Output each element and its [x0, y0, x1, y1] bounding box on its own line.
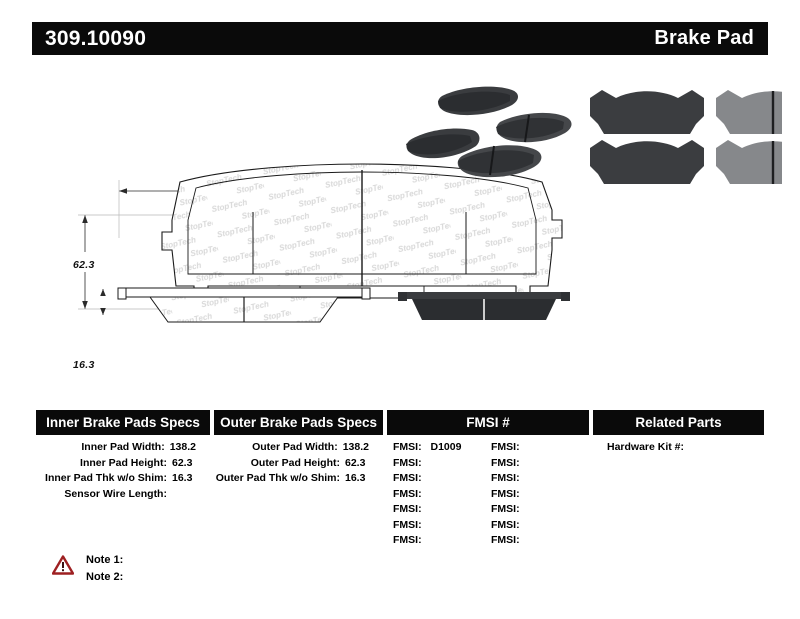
spec-value	[172, 487, 196, 503]
header-inner-specs: Inner Brake Pads Specs	[36, 410, 210, 435]
fmsi-label: FMSI:	[393, 503, 422, 515]
spec-table-body-row: Inner Pad Width: 138.2 Inner Pad Height:…	[36, 440, 764, 549]
spec-value: 62.3	[345, 456, 369, 472]
pad-photo-top-left	[590, 90, 704, 134]
list-item: FMSI: D1009	[393, 440, 491, 456]
specifications-table: Inner Brake Pads Specs Outer Brake Pads …	[36, 410, 764, 549]
fmsi-column-right: FMSI: FMSI: FMSI: FMSI:	[491, 440, 589, 549]
list-item: FMSI:	[491, 487, 589, 503]
list-item: FMSI:	[393, 502, 491, 518]
note-line-1: Note 1:	[86, 552, 123, 569]
notes-section: Note 1: Note 2:	[52, 552, 123, 586]
list-item: FMSI:	[393, 456, 491, 472]
fmsi-value: D1009	[431, 441, 462, 453]
spec-value: 138.2	[170, 440, 196, 456]
list-item: FMSI:	[491, 533, 589, 549]
list-item: FMSI:	[393, 533, 491, 549]
list-item: FMSI:	[491, 471, 589, 487]
list-item: Inner Pad Height: 62.3	[36, 456, 210, 472]
header-related-parts: Related Parts	[593, 410, 764, 435]
pad-photo-bottom-left	[590, 140, 704, 184]
fmsi-label: FMSI:	[393, 488, 422, 500]
spec-label: Inner Pad Width:	[81, 440, 164, 456]
part-number: 309.10090	[45, 27, 146, 51]
fmsi-label: FMSI:	[491, 519, 520, 531]
spec-value: 16.3	[172, 471, 196, 487]
spec-label: Outer Pad Thk w/o Shim:	[216, 471, 340, 487]
spec-label: Sensor Wire Length:	[64, 487, 167, 503]
list-item: FMSI:	[491, 440, 589, 456]
drawing-area: 138.2 62.3 16.3 StopTech StopTech	[0, 60, 800, 390]
product-type: Brake Pad	[654, 27, 754, 50]
product-photo-angled-group	[396, 78, 578, 190]
product-photo-pad-grid	[582, 80, 782, 196]
fmsi-label: FMSI:	[393, 441, 422, 453]
fmsi-label: FMSI:	[491, 503, 520, 515]
fmsi-label: FMSI:	[491, 472, 520, 484]
list-item: FMSI:	[491, 456, 589, 472]
pad-side-view	[100, 288, 370, 332]
fmsi-label: FMSI:	[393, 534, 422, 546]
fmsi-label: FMSI:	[491, 457, 520, 469]
spec-value: 62.3	[172, 456, 196, 472]
fmsi-list: FMSI: D1009 FMSI: FMSI: FMSI:	[387, 440, 589, 549]
list-item: Sensor Wire Length:	[36, 487, 210, 503]
fmsi-label: FMSI:	[393, 457, 422, 469]
fmsi-label: FMSI:	[393, 472, 422, 484]
header-fmsi: FMSI #	[387, 410, 589, 435]
pad-photo-top-right	[716, 90, 782, 134]
spec-label: Outer Pad Height:	[251, 456, 340, 472]
list-item: FMSI:	[393, 487, 491, 503]
spec-value: 138.2	[343, 440, 369, 456]
related-part-label: Hardware Kit #:	[607, 441, 684, 453]
spec-label: Inner Pad Height:	[80, 456, 167, 472]
list-item: Hardware Kit #:	[593, 440, 764, 456]
warning-triangle-icon	[52, 555, 74, 575]
related-parts-list: Hardware Kit #:	[593, 440, 764, 549]
product-photo-side-view	[396, 282, 572, 330]
spec-label: Inner Pad Thk w/o Shim:	[45, 471, 167, 487]
inner-specs-list: Inner Pad Width: 138.2 Inner Pad Height:…	[36, 440, 210, 549]
list-item: FMSI:	[393, 518, 491, 534]
list-item: Inner Pad Width: 138.2	[36, 440, 210, 456]
fmsi-label: FMSI:	[491, 441, 520, 453]
fmsi-label: FMSI:	[491, 488, 520, 500]
fmsi-label: FMSI:	[393, 519, 422, 531]
list-item: Outer Pad Width: 138.2	[214, 440, 383, 456]
fmsi-label: FMSI:	[491, 534, 520, 546]
title-bar: 309.10090 Brake Pad	[32, 22, 768, 55]
pad-photo-bottom-right	[716, 140, 782, 184]
note-line-2: Note 2:	[86, 569, 123, 586]
fmsi-column-left: FMSI: D1009 FMSI: FMSI: FMSI:	[393, 440, 491, 549]
list-item: FMSI:	[491, 502, 589, 518]
spec-table-header-row: Inner Brake Pads Specs Outer Brake Pads …	[36, 410, 764, 435]
list-item: Outer Pad Height: 62.3	[214, 456, 383, 472]
list-item: Outer Pad Thk w/o Shim: 16.3	[214, 471, 383, 487]
header-outer-specs: Outer Brake Pads Specs	[214, 410, 383, 435]
list-item: Inner Pad Thk w/o Shim: 16.3	[36, 471, 210, 487]
list-item: FMSI:	[491, 518, 589, 534]
list-item: FMSI:	[393, 471, 491, 487]
spec-value: 16.3	[345, 471, 369, 487]
outer-specs-list: Outer Pad Width: 138.2 Outer Pad Height:…	[214, 440, 383, 549]
spec-label: Outer Pad Width:	[252, 440, 338, 456]
